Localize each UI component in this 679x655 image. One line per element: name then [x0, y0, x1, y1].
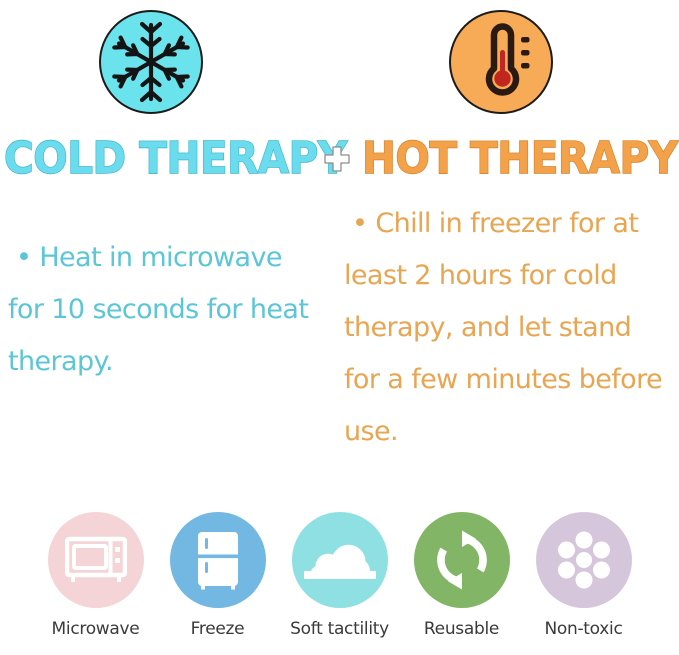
hot-instruction-line-4: for a few minutes before — [344, 354, 674, 406]
hot-therapy-instructions: • Chill in freezer for at least 2 hours … — [344, 198, 674, 458]
cold-instruction-line-3: therapy. — [8, 336, 328, 388]
feature-label-freeze: Freeze — [191, 619, 245, 639]
therapy-badge-row — [0, 8, 679, 120]
feature-reusable: Reusable — [401, 512, 523, 639]
feature-label-soft-tactility: Soft tactility — [290, 619, 389, 639]
cold-bullet: • — [16, 242, 31, 273]
feature-soft-tactility: Soft tactility — [279, 512, 401, 639]
cloud-icon — [302, 538, 378, 582]
feature-microwave: Microwave — [35, 512, 157, 639]
hot-therapy-headline: HOT THERAPY — [362, 133, 678, 185]
hot-instruction-line-3: therapy, and let stand — [344, 302, 674, 354]
non-toxic-disc — [536, 512, 632, 608]
feature-label-non-toxic: Non-toxic — [544, 619, 622, 639]
cold-instruction-line-1: • Heat in microwave — [8, 232, 328, 284]
headline-row: COLD THERAPY HOT THERAPY — [0, 133, 679, 185]
hot-instruction-line-5: use. — [344, 406, 674, 458]
microwave-icon — [65, 535, 127, 585]
feature-label-microwave: Microwave — [52, 619, 140, 639]
cold-therapy-badge — [99, 10, 203, 114]
cold-instruction-line-2: for 10 seconds for heat — [8, 284, 328, 336]
recycle-arrows-icon — [429, 527, 495, 593]
hot-lead-text: Chill in freezer for at — [375, 208, 638, 239]
cold-therapy-headline: COLD THERAPY — [4, 133, 347, 185]
microwave-disc — [48, 512, 144, 608]
plus-icon — [322, 144, 352, 174]
soft-tactility-disc — [292, 512, 388, 608]
feature-strip: Microwave Freeze — [0, 512, 679, 655]
refrigerator-icon — [196, 530, 240, 590]
cold-therapy-instructions: • Heat in microwave for 10 seconds for h… — [8, 232, 328, 388]
hot-instruction-line-1: • Chill in freezer for at — [344, 198, 674, 250]
cold-lead-text: Heat in microwave — [39, 242, 282, 273]
feature-non-toxic: Non-toxic — [523, 512, 645, 639]
feature-freeze: Freeze — [157, 512, 279, 639]
snowflake-icon — [101, 12, 201, 112]
feature-label-reusable: Reusable — [424, 619, 499, 639]
reusable-disc — [414, 512, 510, 608]
dots-cluster-icon — [550, 526, 618, 594]
thermometer-icon — [451, 12, 551, 112]
freeze-disc — [170, 512, 266, 608]
hot-therapy-badge — [449, 10, 553, 114]
hot-instruction-line-2: least 2 hours for cold — [344, 250, 674, 302]
hot-bullet: • — [352, 208, 367, 239]
